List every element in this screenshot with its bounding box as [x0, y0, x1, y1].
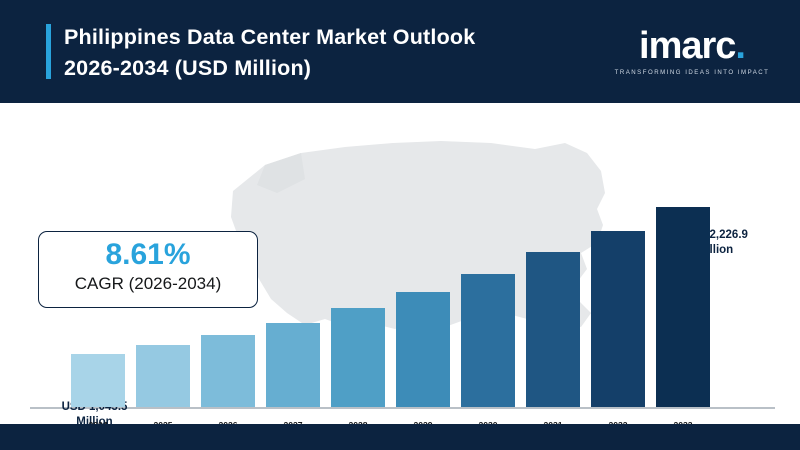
bar-2030 [461, 274, 515, 407]
header-accent-bar [46, 24, 51, 79]
bar-2032 [591, 231, 645, 407]
page-title-line1: Philippines Data Center Market Outlook [64, 25, 475, 49]
bar-chart: USD 1,043.5 Million USD 2,226.9 Million … [0, 103, 800, 450]
logo-dot-icon: . [735, 25, 745, 67]
bar-2027 [266, 323, 320, 407]
logo-text: imarc [639, 25, 735, 67]
bar-2033 [656, 207, 710, 407]
footer-bar [0, 424, 800, 450]
bar-2024 [71, 354, 125, 407]
imarc-logo: imarc. TRANSFORMING IDEAS INTO IMPACT [612, 26, 772, 76]
logo-wordmark: imarc. [612, 26, 772, 66]
bar-2025 [136, 345, 190, 407]
page-title-line2: 2026-2034 (USD Million) [64, 53, 624, 84]
page-title: Philippines Data Center Market Outlook 2… [64, 22, 624, 84]
header-bar: Philippines Data Center Market Outlook 2… [0, 0, 800, 103]
infographic-page: Philippines Data Center Market Outlook 2… [0, 0, 800, 450]
bar-2028 [331, 308, 385, 407]
logo-tagline: TRANSFORMING IDEAS INTO IMPACT [612, 69, 772, 76]
bar-2026 [201, 335, 255, 407]
bar-2029 [396, 292, 450, 407]
bar-2031 [526, 252, 580, 407]
